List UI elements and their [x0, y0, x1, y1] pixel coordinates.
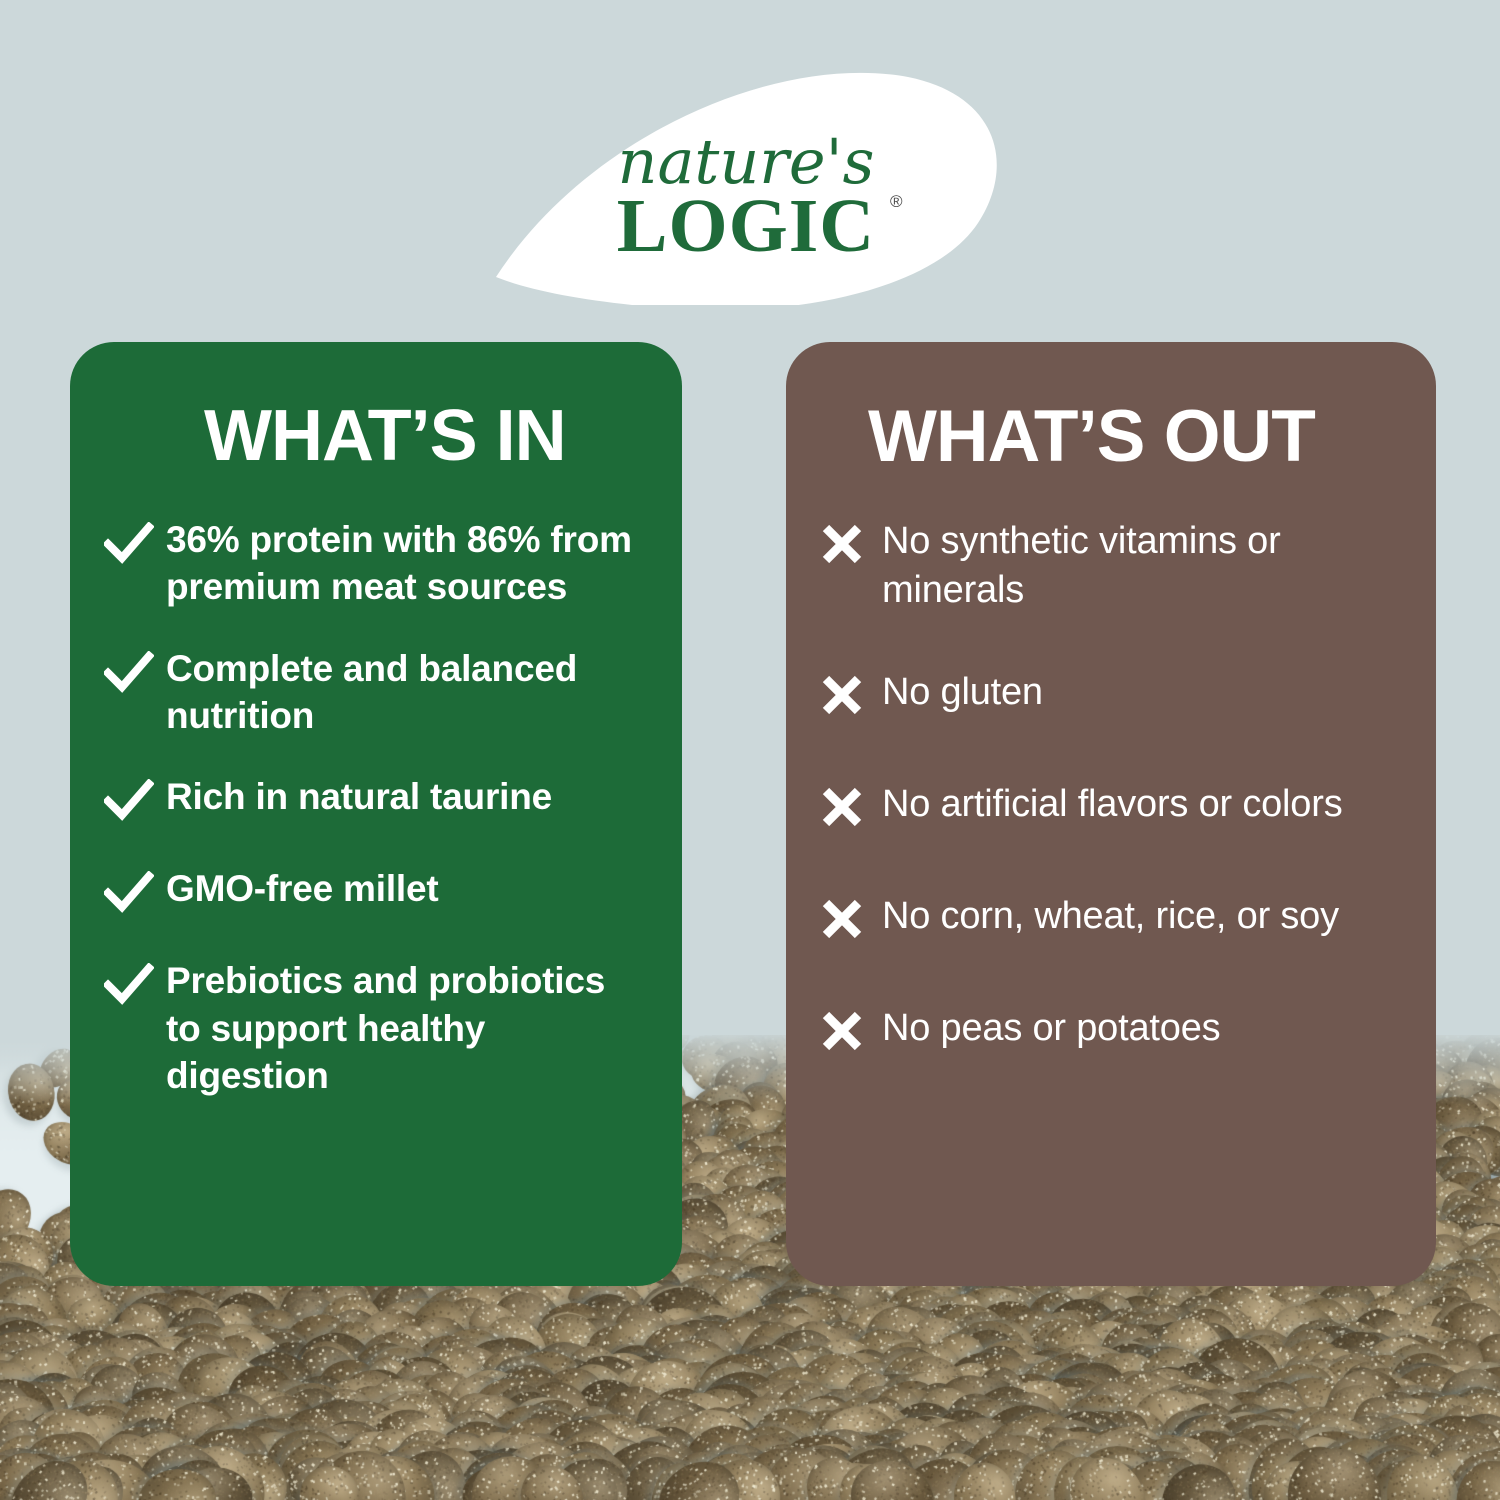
list-item: Complete and balanced nutrition — [104, 645, 648, 740]
check-icon — [104, 779, 166, 831]
list-item: No artificial flavors or colors — [820, 780, 1402, 838]
bullet-label: Complete and balanced nutrition — [166, 645, 648, 740]
natures-logic-logo: nature's LOGIC ® — [478, 55, 1018, 305]
list-item: No gluten — [820, 668, 1402, 726]
panel-title-whats-in: WHAT’S IN — [104, 400, 648, 472]
infographic-canvas: nature's LOGIC ® WHAT’S IN 36% protein w… — [0, 0, 1500, 1500]
check-icon — [104, 963, 166, 1015]
panel-title-whats-out: WHAT’S OUT — [820, 400, 1402, 473]
bullet-list-whats-out: No synthetic vitamins or minerals No glu… — [820, 517, 1402, 1062]
bullet-label: Rich in natural taurine — [166, 773, 552, 820]
list-item: No peas or potatoes — [820, 1004, 1402, 1062]
check-icon — [104, 522, 166, 574]
bullet-label: Prebiotics and probiotics to support hea… — [166, 957, 648, 1099]
bullet-label: GMO-free millet — [166, 865, 439, 912]
bullet-label: 36% protein with 86% from premium meat s… — [166, 516, 648, 611]
cross-icon — [820, 786, 882, 838]
list-item: GMO-free millet — [104, 865, 648, 923]
panel-whats-out: WHAT’S OUT No synthetic vitamins or mine… — [786, 342, 1436, 1286]
bullet-label: No peas or potatoes — [882, 1004, 1220, 1053]
list-item: 36% protein with 86% from premium meat s… — [104, 516, 648, 611]
bullet-label: No corn, wheat, rice, or soy — [882, 892, 1339, 941]
cross-icon — [820, 674, 882, 726]
list-item: Rich in natural taurine — [104, 773, 648, 831]
bullet-list-whats-in: 36% protein with 86% from premium meat s… — [104, 516, 648, 1100]
bullet-label: No artificial flavors or colors — [882, 780, 1343, 829]
check-icon — [104, 871, 166, 923]
registered-mark-icon: ® — [890, 192, 903, 211]
cross-icon — [820, 523, 882, 575]
list-item: Prebiotics and probiotics to support hea… — [104, 957, 648, 1099]
bullet-label: No gluten — [882, 668, 1043, 717]
list-item: No synthetic vitamins or minerals — [820, 517, 1402, 614]
check-icon — [104, 651, 166, 703]
list-item: No corn, wheat, rice, or soy — [820, 892, 1402, 950]
cross-icon — [820, 898, 882, 950]
bullet-label: No synthetic vitamins or minerals — [882, 517, 1402, 614]
logo-main-text: LOGIC — [617, 184, 875, 268]
panel-whats-in: WHAT’S IN 36% protein with 86% from prem… — [70, 342, 682, 1286]
cross-icon — [820, 1010, 882, 1062]
